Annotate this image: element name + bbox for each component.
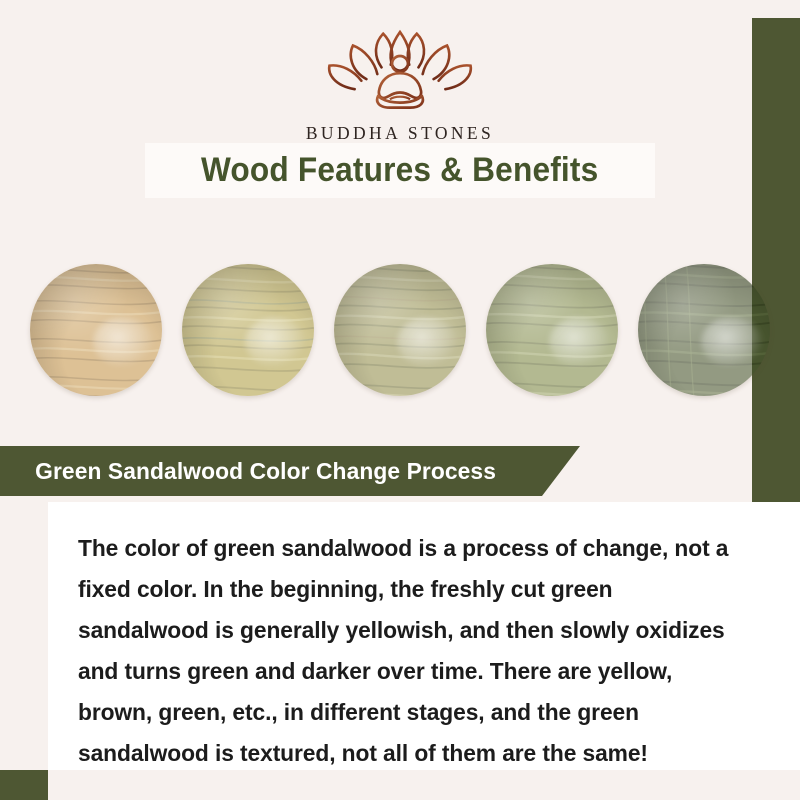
bead-shading-1	[30, 264, 162, 396]
bead-stage-3	[334, 264, 466, 396]
description-card: The color of green sandalwood is a proce…	[48, 502, 800, 770]
brand-name: BUDDHA STONES	[0, 123, 800, 144]
bead-stage-1	[30, 264, 162, 396]
bead-shading-5	[638, 264, 770, 396]
section-header-banner: Green Sandalwood Color Change Process	[0, 446, 580, 496]
lotus-meditation-icon	[316, 26, 484, 112]
page-title: Wood Features & Benefits	[201, 151, 598, 190]
bead-color-progression	[0, 250, 800, 410]
bead-shading-3	[334, 264, 466, 396]
brand-logo: BUDDHA STONES	[0, 26, 800, 144]
bead-stage-4	[486, 264, 618, 396]
title-banner: Wood Features & Benefits	[145, 143, 655, 198]
section-header-label: Green Sandalwood Color Change Process	[35, 458, 496, 485]
bead-stage-2	[182, 264, 314, 396]
description-paragraph: The color of green sandalwood is a proce…	[78, 528, 749, 774]
bead-stage-5	[638, 264, 770, 396]
bead-shading-4	[486, 264, 618, 396]
bead-shading-2	[182, 264, 314, 396]
